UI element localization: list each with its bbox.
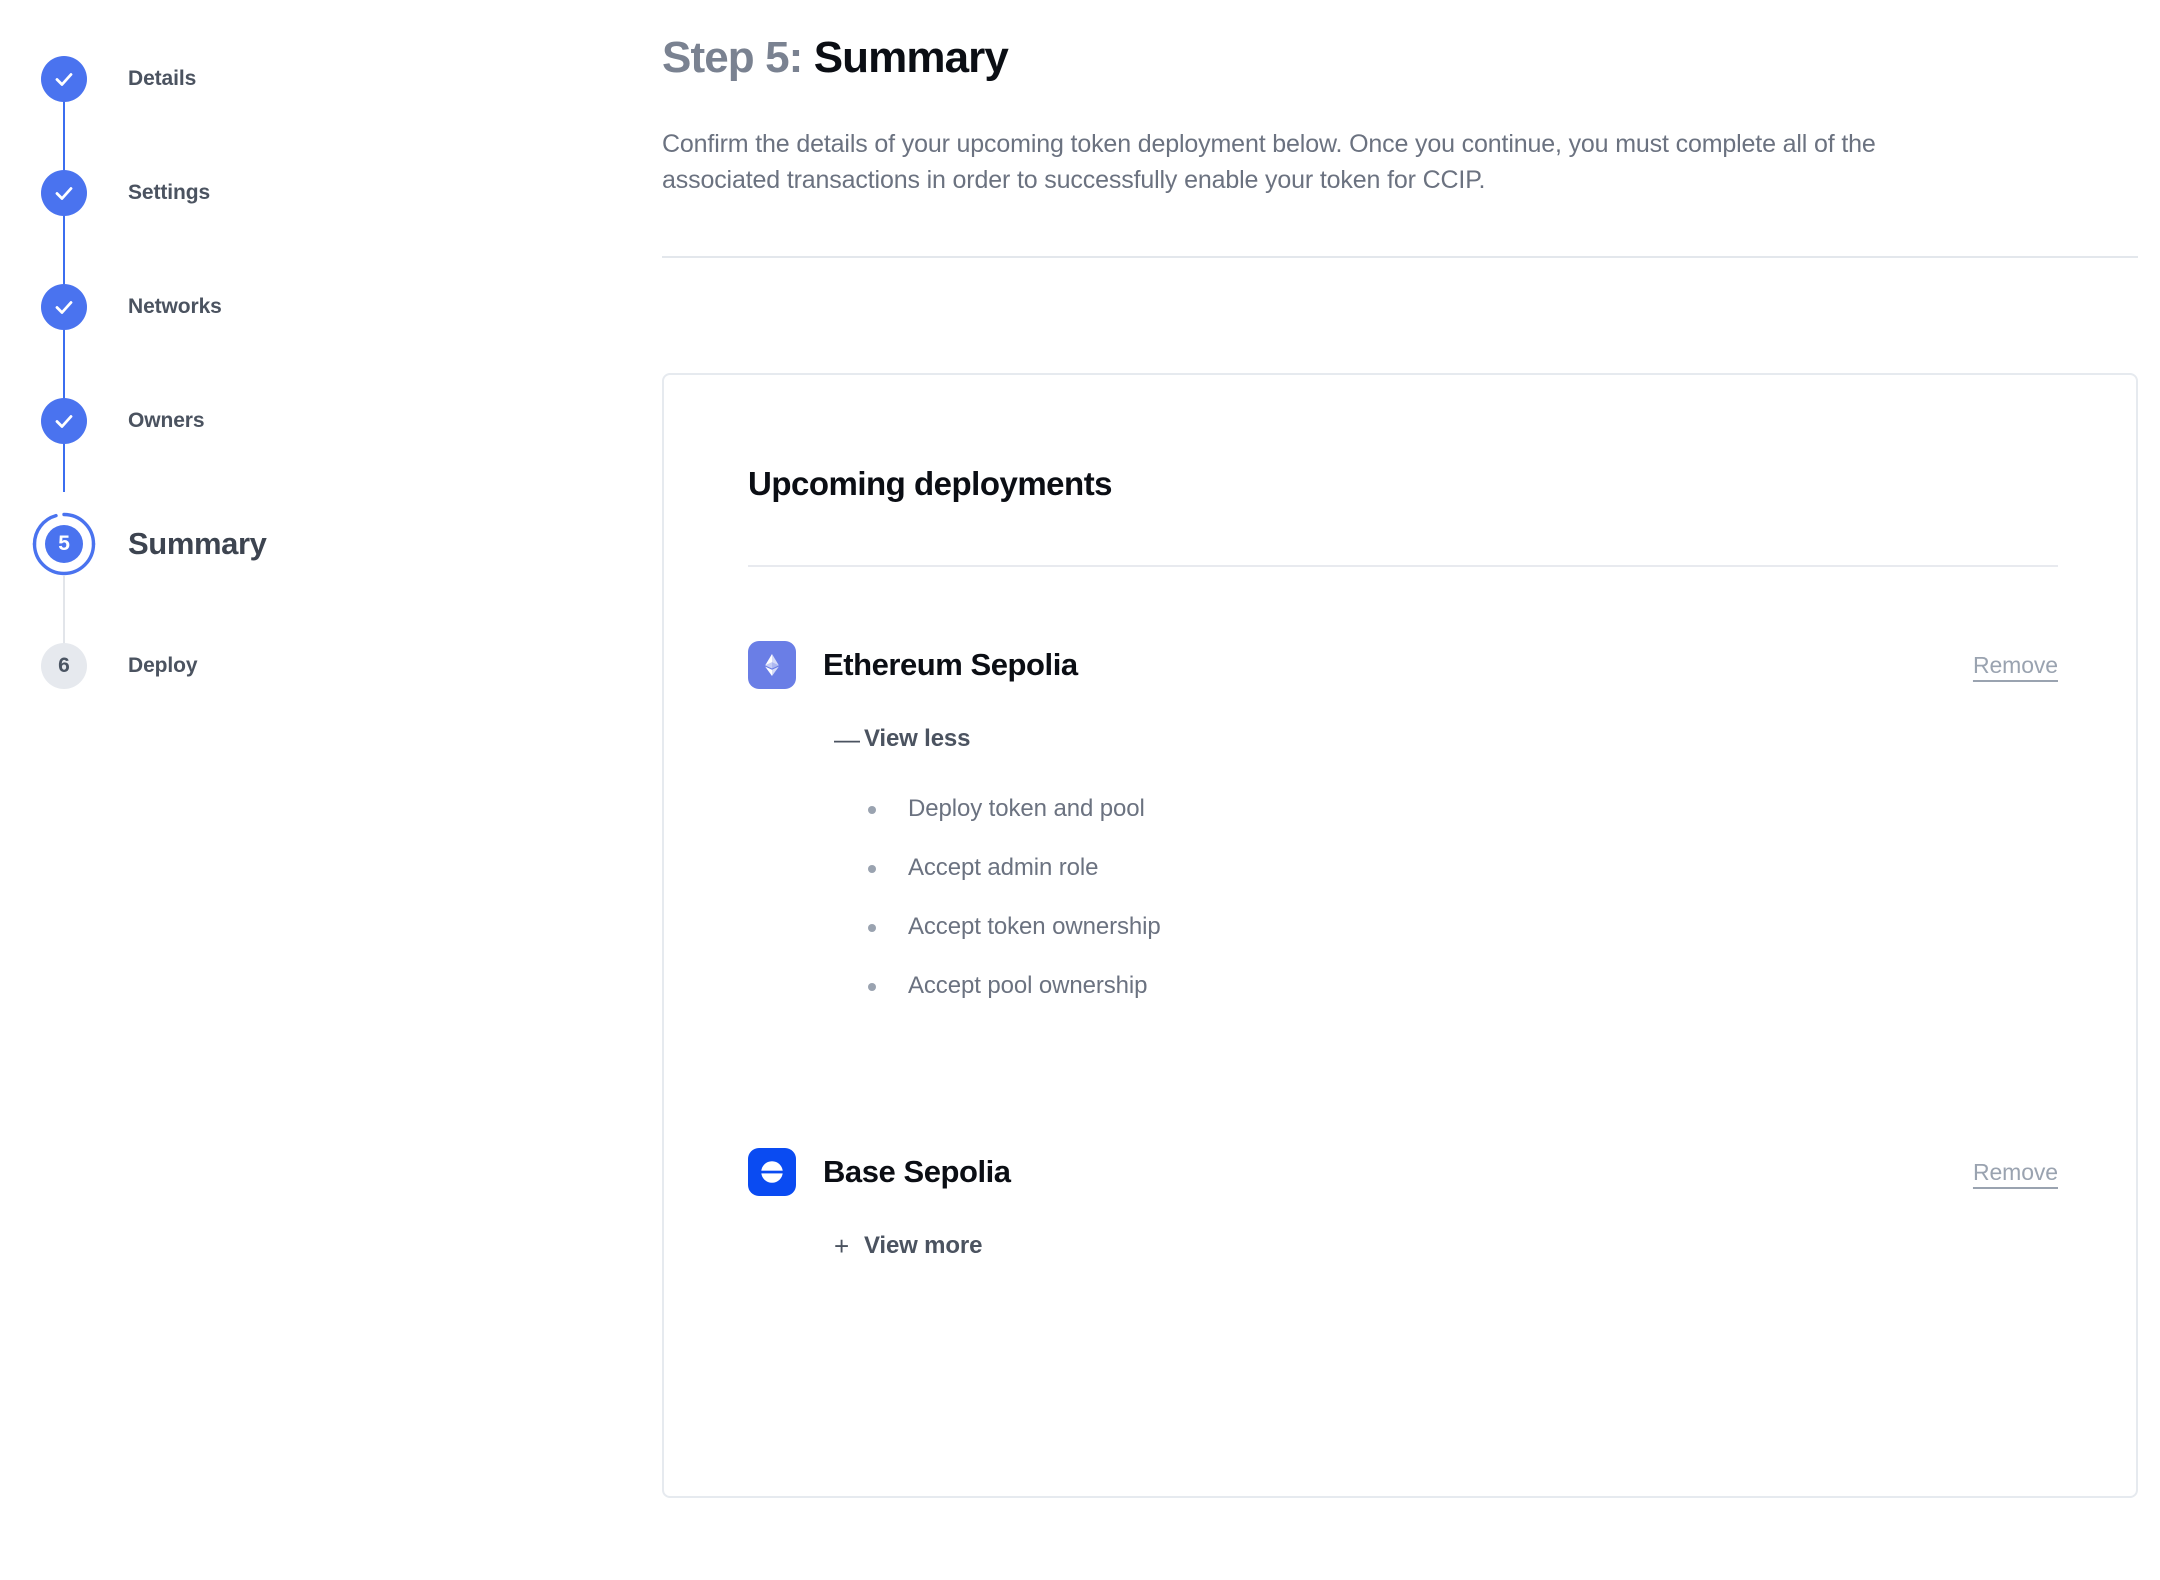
step-marker-deploy: 6 xyxy=(0,609,128,723)
sidebar-item-summary[interactable]: 5 Summary xyxy=(0,478,640,609)
page-title-step-prefix: Step 5: xyxy=(662,33,802,82)
ethereum-icon xyxy=(748,641,796,689)
sidebar-item-details[interactable]: Details xyxy=(0,22,640,136)
list-item: Accept admin role xyxy=(863,856,2074,880)
sidebar-item-settings[interactable]: Settings xyxy=(0,136,640,250)
sidebar-item-label: Networks xyxy=(128,295,222,319)
step-status-done xyxy=(41,56,87,102)
check-icon xyxy=(52,295,76,319)
remove-network-link[interactable]: Remove xyxy=(1973,1159,2058,1186)
check-icon xyxy=(52,67,76,91)
deployment-network-block: Base Sepolia Remove + View more xyxy=(748,1148,2074,1260)
sidebar-item-networks[interactable]: Networks xyxy=(0,250,640,364)
network-name: Ethereum Sepolia xyxy=(823,647,1078,683)
token-manager-wizard-page: Details Settings xyxy=(0,0,2160,1580)
main-content: Step 5: Summary Confirm the details of y… xyxy=(662,0,2160,1498)
base-icon xyxy=(748,1148,796,1196)
plus-icon: + xyxy=(834,1233,864,1259)
step-marker-owners xyxy=(0,364,128,478)
sidebar-item-deploy[interactable]: 6 Deploy xyxy=(0,609,640,723)
step-marker-summary: 5 xyxy=(0,478,128,609)
list-item: Deploy token and pool xyxy=(863,797,2074,821)
page-title: Step 5: Summary xyxy=(662,30,2160,85)
step-marker-settings xyxy=(0,136,128,250)
sidebar-item-owners[interactable]: Owners xyxy=(0,364,640,478)
card-title: Upcoming deployments xyxy=(748,465,2074,503)
header-divider xyxy=(662,256,2138,258)
card-title-divider xyxy=(748,565,2058,567)
sidebar-item-label: Settings xyxy=(128,181,210,205)
list-item: Accept token ownership xyxy=(863,915,2074,939)
network-header: Ethereum Sepolia Remove xyxy=(748,641,2058,689)
view-toggle-label: View more xyxy=(864,1232,982,1260)
network-header: Base Sepolia Remove xyxy=(748,1148,2058,1196)
minus-icon: — xyxy=(834,726,864,752)
page-description: Confirm the details of your upcoming tok… xyxy=(662,127,1942,198)
ethereum-glyph-icon xyxy=(759,652,785,678)
sidebar-item-label: Summary xyxy=(128,526,267,562)
step-status-pending: 6 xyxy=(41,643,87,689)
step-marker-details xyxy=(0,22,128,136)
remove-network-link[interactable]: Remove xyxy=(1973,652,2058,679)
view-toggle-label: View less xyxy=(864,725,970,753)
step-status-done xyxy=(41,170,87,216)
network-name: Base Sepolia xyxy=(823,1154,1011,1190)
deployment-network-block: Ethereum Sepolia Remove — View less Depl… xyxy=(748,641,2074,998)
step-status-done xyxy=(41,284,87,330)
step-status-done xyxy=(41,398,87,444)
view-less-toggle[interactable]: — View less xyxy=(834,725,970,753)
base-glyph-icon xyxy=(757,1157,787,1187)
view-more-toggle[interactable]: + View more xyxy=(834,1232,982,1260)
sidebar-item-label: Deploy xyxy=(128,654,197,678)
upcoming-deployments-card: Upcoming deployments xyxy=(662,373,2138,1498)
step-marker-networks xyxy=(0,250,128,364)
sidebar-item-label: Owners xyxy=(128,409,204,433)
step-status-current: 5 xyxy=(45,525,83,563)
check-icon xyxy=(52,181,76,205)
sidebar-item-label: Details xyxy=(128,67,196,91)
step-number: 5 xyxy=(58,532,69,556)
page-title-text: Summary xyxy=(814,33,1008,82)
step-number: 6 xyxy=(58,654,70,678)
list-item: Accept pool ownership xyxy=(863,974,2074,998)
wizard-stepper: Details Settings xyxy=(0,0,640,1580)
deployment-task-list: Deploy token and pool Accept admin role … xyxy=(863,797,2074,998)
check-icon xyxy=(52,409,76,433)
